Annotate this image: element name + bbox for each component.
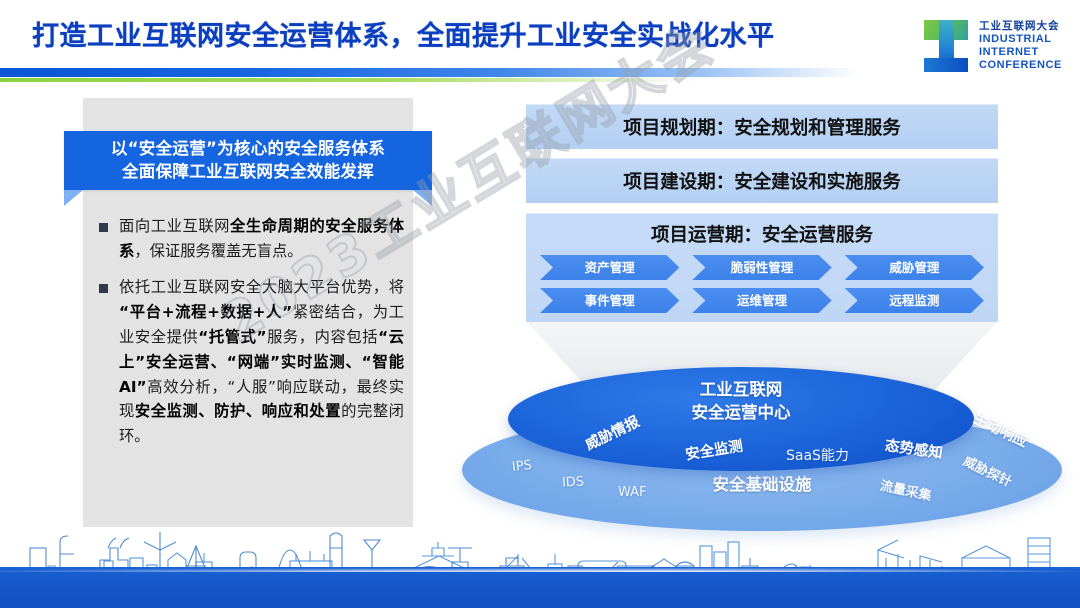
logo-english-line-2: INTERNET [979,46,1062,59]
infrastructure-component-label: IPS [511,458,532,475]
bullet-item: 面向工业互联网全生命周期的安全服务体系，保证服务覆盖无盲点。 [99,214,404,264]
operations-tag[interactable]: 远程监测 [845,288,984,313]
phase-box-operations[interactable]: 项目运营期：安全运营服务 资产管理脆弱性管理威胁管理事件管理运维管理远程监测 [526,213,998,322]
soc-capability-label: 安全监测 [684,435,745,465]
logo-english-line-1: INDUSTRIAL [979,33,1062,46]
header-accent-bar-green [0,78,700,82]
bullet-square-icon [99,284,108,293]
security-operations-center-ellipse: 工业互联网 安全运营中心 威胁情报安全监测SaaS能力态势感知主动响应 [508,367,974,471]
soc-capability-label: SaaS能力 [786,445,849,465]
logo-text-block: 工业互联网大会 INDUSTRIAL INTERNET CONFERENCE [979,20,1062,71]
logo-chinese-name: 工业互联网大会 [979,20,1062,32]
key-message-ribbon: 以“安全运营”为核心的安全服务体系 全面保障工业互联网安全效能发挥 [64,131,432,190]
operations-tag[interactable]: 脆弱性管理 [692,255,831,280]
infrastructure-component-label: IDS [562,474,585,490]
bullet-list: 面向工业互联网全生命周期的安全服务体系，保证服务覆盖无盲点。依托工业互联网安全大… [99,214,404,460]
phase-box-construction[interactable]: 项目建设期：安全建设和实施服务 [526,158,998,203]
ribbon-fold-right-icon [413,190,432,206]
soc-title-line-2: 安全运营中心 [508,401,974,424]
operations-tag[interactable]: 运维管理 [692,288,831,313]
ribbon-fold-left-icon [64,190,83,206]
logo-english-line-3: CONFERENCE [979,59,1062,72]
bullet-square-icon [99,223,108,232]
bullet-text: 依托工业互联网安全大脑大平台优势，将“平台+流程+数据+人”紧密结合，为工业安全… [119,275,404,449]
operations-tag[interactable]: 威胁管理 [845,255,984,280]
sea-band [0,567,1080,608]
sea-horizon-glow [0,565,1080,572]
operations-title: 项目运营期：安全运营服务 [526,221,998,247]
bullet-text: 面向工业互联网全生命周期的安全服务体系，保证服务覆盖无盲点。 [119,214,404,264]
header-accent-bar [0,68,860,77]
slide-root: 打造工业互联网安全运营体系，全面提升工业安全实战化水平 工业互联网大会 INDU… [0,0,1080,608]
infrastructure-component-label: WAF [618,485,647,500]
bullet-item: 依托工业互联网安全大脑大平台优势，将“平台+流程+数据+人”紧密结合，为工业安全… [99,275,404,449]
soc-title-line-1: 工业互联网 [508,378,974,401]
security-infrastructure-label: 安全基础设施 [462,471,1062,495]
logo-i-mark-icon [920,18,972,74]
conference-logo: 工业互联网大会 INDUSTRIAL INTERNET CONFERENCE [920,18,1062,74]
operations-tag[interactable]: 资产管理 [540,255,679,280]
operations-tag[interactable]: 事件管理 [540,288,679,313]
page-title: 打造工业互联网安全运营体系，全面提升工业安全实战化水平 [32,14,775,53]
ribbon-line-2: 全面保障工业互联网安全效能发挥 [122,161,374,183]
phase-box-planning[interactable]: 项目规划期：安全规划和管理服务 [526,104,998,149]
ribbon-line-1: 以“安全运营”为核心的安全服务体系 [111,138,385,160]
soc-title: 工业互联网 安全运营中心 [508,378,974,425]
operations-tag-grid: 资产管理脆弱性管理威胁管理事件管理运维管理远程监测 [540,255,984,313]
